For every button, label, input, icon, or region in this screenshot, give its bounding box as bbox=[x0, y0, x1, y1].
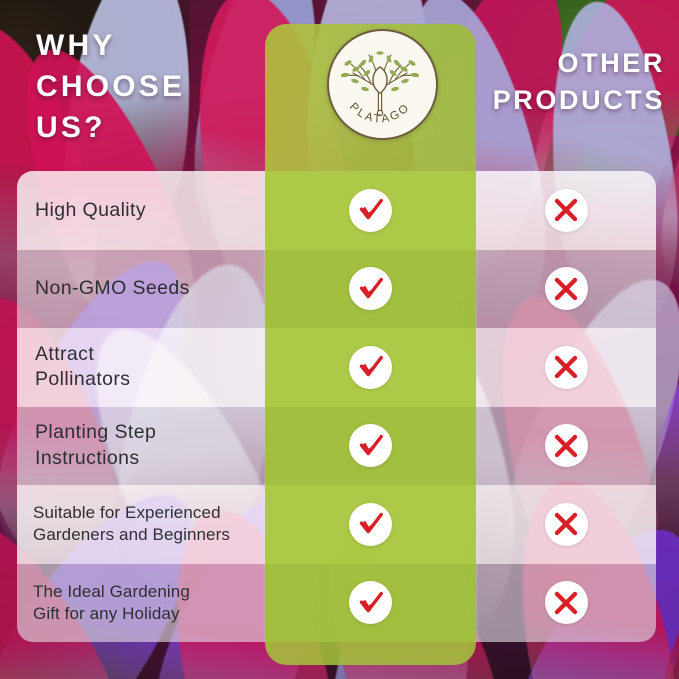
table-row: Attract Pollinators bbox=[17, 328, 656, 407]
feature-label: The Ideal Gardening Gift for any Holiday bbox=[17, 581, 265, 625]
comparison-infographic: PLATAGO WHY CHOOSE US? OTHER PRODUCTS Hi… bbox=[0, 0, 679, 679]
feature-label: Suitable for Experienced Gardeners and B… bbox=[17, 502, 265, 546]
comparison-table: High QualityNon-GMO SeedsAttract Pollina… bbox=[17, 171, 656, 642]
feature-label: Planting Step Instructions bbox=[17, 420, 265, 471]
feature-label: Attract Pollinators bbox=[17, 342, 265, 393]
cross-mark-icon bbox=[545, 267, 588, 310]
brand-logo-badge: PLATAGO bbox=[327, 29, 438, 140]
table-rows: High QualityNon-GMO SeedsAttract Pollina… bbox=[17, 171, 656, 642]
table-row: The Ideal Gardening Gift for any Holiday bbox=[17, 564, 656, 643]
table-row: Non-GMO Seeds bbox=[17, 250, 656, 329]
table-row: High Quality bbox=[17, 171, 656, 250]
cross-mark-icon bbox=[545, 424, 588, 467]
theirs-cell bbox=[476, 346, 656, 389]
heading-other-products: OTHER PRODUCTS bbox=[445, 45, 665, 120]
heading-why-choose-us: WHY CHOOSE US? bbox=[36, 26, 266, 148]
shovel-blade bbox=[373, 67, 387, 94]
feature-label: High Quality bbox=[17, 198, 265, 223]
table-row: Planting Step Instructions bbox=[17, 407, 656, 486]
theirs-cell bbox=[476, 267, 656, 310]
theirs-cell bbox=[476, 424, 656, 467]
table-row: Suitable for Experienced Gardeners and B… bbox=[17, 485, 656, 564]
tree-with-shovel-icon: PLATAGO bbox=[329, 31, 431, 133]
feature-label: Non-GMO Seeds bbox=[17, 276, 265, 301]
theirs-cell bbox=[476, 189, 656, 232]
theirs-cell bbox=[476, 581, 656, 624]
cross-mark-icon bbox=[545, 189, 588, 232]
theirs-cell bbox=[476, 503, 656, 546]
cross-mark-icon bbox=[545, 581, 588, 624]
cross-mark-icon bbox=[545, 503, 588, 546]
cross-mark-icon bbox=[545, 346, 588, 389]
